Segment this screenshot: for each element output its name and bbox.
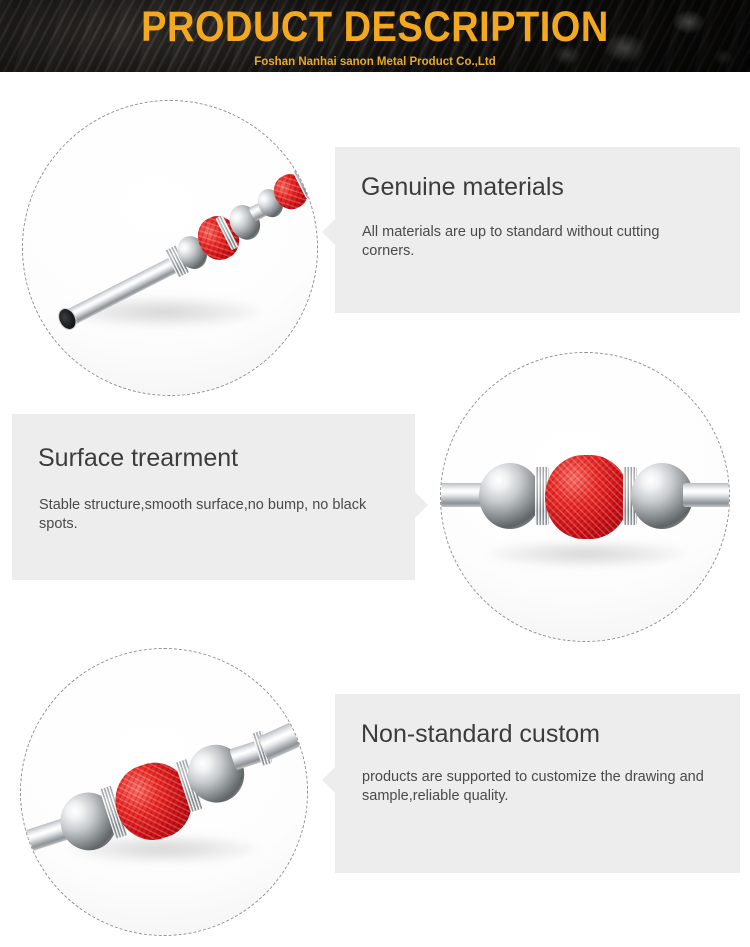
panel-pointer-left-icon	[322, 219, 335, 245]
feature-panel-non-standard-custom: Non-standard custom products are support…	[335, 694, 740, 873]
panel-body-genuine-materials: All materials are up to standard without…	[362, 223, 707, 261]
angle-tube-right	[258, 714, 308, 761]
page-header-banner: PRODUCT DESCRIPTION Foshan Nanhai sanon …	[0, 0, 750, 72]
company-name: Foshan Nanhai sanon Metal Product Co.,Lt…	[254, 55, 496, 69]
product-photo-angled-bead	[20, 648, 308, 936]
bead-assembly-macro	[440, 445, 730, 549]
panel-pointer-left-icon	[322, 767, 335, 793]
panel-pointer-right-icon	[415, 492, 428, 518]
panel-heading-genuine-materials: Genuine materials	[361, 172, 564, 202]
panel-heading-non-standard-custom: Non-standard custom	[361, 719, 600, 749]
panel-body-surface-treatment: Stable structure,smooth surface,no bump,…	[39, 496, 399, 534]
panel-body-non-standard-custom: products are supported to customize the …	[362, 768, 712, 806]
product-photo-full-rod	[22, 100, 318, 396]
page-title: PRODUCT DESCRIPTION	[141, 4, 609, 51]
macro-red-crystal-bead	[545, 455, 629, 539]
macro-tube-right	[683, 483, 730, 507]
feature-panel-surface-treatment: Surface trearment Stable structure,smoot…	[12, 414, 415, 580]
macro-ball-left	[479, 463, 541, 529]
product-photo-macro-bead	[440, 352, 730, 642]
panel-heading-surface-treatment: Surface trearment	[38, 443, 238, 473]
feature-panel-genuine-materials: Genuine materials All materials are up t…	[335, 147, 740, 313]
